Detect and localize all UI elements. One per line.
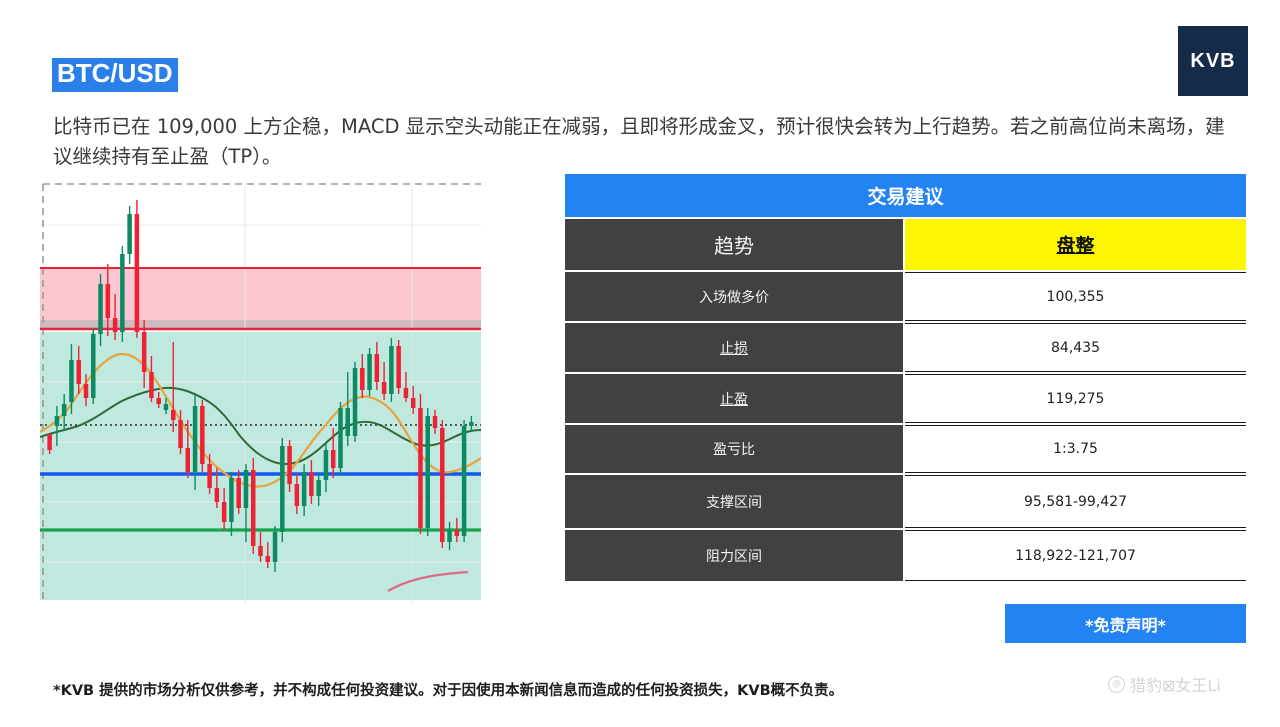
candle-body — [142, 332, 147, 372]
watermark-handle: 猎豹⊠女王Li — [1130, 672, 1221, 696]
candle-body — [258, 546, 263, 556]
candle-body — [469, 422, 474, 426]
candle-body — [346, 408, 351, 436]
candle-body — [455, 530, 460, 536]
row-label-resistance-range: 阻力区间 — [565, 530, 903, 581]
candle-body — [149, 372, 154, 398]
candle-body — [375, 354, 380, 382]
candle-body — [353, 368, 358, 436]
candle-body — [462, 426, 467, 536]
price-chart — [40, 182, 481, 604]
disclaimer-button[interactable]: *免责声明* — [1005, 604, 1246, 643]
candle-body — [200, 406, 205, 464]
candle-body — [418, 408, 423, 528]
candle-body — [302, 472, 307, 506]
candle-body — [47, 434, 52, 450]
candle-body — [164, 404, 169, 410]
row-label-risk-reward: 盈亏比 — [565, 425, 903, 473]
candle-body — [69, 360, 74, 402]
candle-body — [360, 368, 365, 390]
row-value-support-range: 95,581-99,427 — [905, 475, 1246, 528]
row-value-take-profit: 119,275 — [905, 374, 1246, 423]
candle-body — [440, 428, 445, 542]
watermark: @ 猎豹⊠女王Li — [1108, 672, 1221, 696]
candle-body — [236, 478, 241, 508]
table-row: 止损 84,435 — [565, 323, 1246, 372]
trend-value: 盘整 — [905, 219, 1246, 270]
candle-body — [433, 416, 438, 428]
candle-body — [222, 502, 227, 522]
candle-body — [287, 446, 292, 484]
candle-body — [91, 334, 96, 398]
candle-body — [331, 450, 336, 468]
candle-body — [178, 420, 183, 448]
candle-body — [55, 416, 60, 426]
table-row: 阻力区间 118,922-121,707 — [565, 530, 1246, 581]
candle-body — [229, 478, 234, 522]
candle-body — [76, 360, 81, 384]
row-label-take-profit: 止盈 — [565, 374, 903, 423]
table-title: 交易建议 — [565, 174, 1246, 217]
candle-body — [382, 382, 387, 394]
resistance-gray-band — [40, 320, 481, 329]
page-title: BTC/USD — [52, 58, 178, 92]
kvb-logo-text: KVB — [1190, 50, 1235, 73]
table-row: 盈亏比 1:3.75 — [565, 425, 1246, 473]
candle-body — [135, 214, 140, 332]
candle-body — [171, 410, 176, 420]
candle-body — [113, 318, 118, 332]
candle-body — [324, 450, 329, 480]
candle-body — [309, 472, 314, 496]
footer-disclaimer-text: *KVB 提供的市场分析仅供参考，并不构成任何投资建议。对于因使用本新闻信息而造… — [53, 679, 953, 700]
trade-suggestion-table: 交易建议 趋势 盘整 入场做多价 100,355 止损 84,435 止盈 11… — [565, 174, 1246, 581]
candle-body — [84, 384, 89, 398]
candle-body — [389, 346, 394, 394]
kvb-logo: KVB — [1178, 26, 1248, 96]
candle-body — [62, 404, 67, 416]
table-row: 止盈 119,275 — [565, 374, 1246, 423]
candle-body — [127, 214, 132, 254]
candle-body — [207, 464, 212, 488]
row-label-stop-loss: 止损 — [565, 323, 903, 372]
row-label-support-range: 支撑区间 — [565, 475, 903, 528]
candle-body — [266, 556, 271, 562]
candle-body — [273, 532, 278, 562]
candle-body — [338, 408, 343, 468]
row-label-entry-price: 入场做多价 — [565, 272, 903, 321]
candle-body — [186, 448, 191, 472]
candle-body — [106, 284, 111, 318]
table-row: 支撑区间 95,581-99,427 — [565, 475, 1246, 528]
candle-body — [425, 416, 430, 528]
candle-body — [316, 480, 321, 496]
candle-body — [367, 354, 372, 390]
market-summary-text: 比特币已在 109,000 上方企稳，MACD 显示空头动能正在减弱，且即将形成… — [53, 112, 1233, 172]
row-value-entry-price: 100,355 — [905, 272, 1246, 321]
candle-body — [215, 488, 220, 502]
watermark-at-icon: @ — [1108, 676, 1125, 693]
candle-body — [295, 484, 300, 506]
candle-body — [156, 398, 161, 404]
table-row: 入场做多价 100,355 — [565, 272, 1246, 321]
candle-body — [251, 470, 256, 546]
candle-body — [244, 470, 249, 508]
candle-body — [120, 254, 125, 332]
candle-body — [447, 530, 452, 542]
candle-body — [98, 284, 103, 334]
row-value-risk-reward: 1:3.75 — [905, 425, 1246, 473]
candlestick-chart-svg — [40, 182, 481, 604]
row-value-stop-loss: 84,435 — [905, 323, 1246, 372]
candle-body — [193, 406, 198, 472]
candle-body — [280, 446, 285, 532]
candle-body — [396, 346, 401, 388]
candle-body — [411, 398, 416, 408]
row-value-resistance-range: 118,922-121,707 — [905, 530, 1246, 581]
trend-label: 趋势 — [565, 219, 903, 270]
table-row-trend: 趋势 盘整 — [565, 219, 1246, 270]
candle-body — [404, 388, 409, 398]
